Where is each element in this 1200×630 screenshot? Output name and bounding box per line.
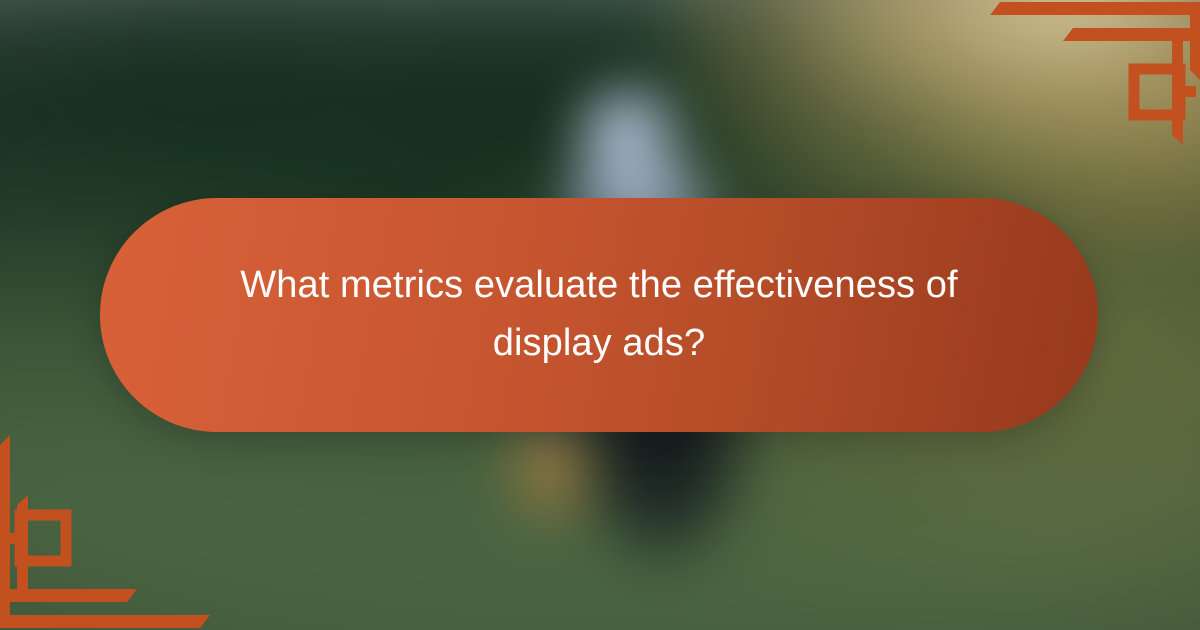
headline-question-text: What metrics evaluate the effectiveness …	[239, 257, 959, 373]
share-card-canvas: What metrics evaluate the effectiveness …	[0, 0, 1200, 630]
headline-card: What metrics evaluate the effectiveness …	[100, 198, 1098, 432]
